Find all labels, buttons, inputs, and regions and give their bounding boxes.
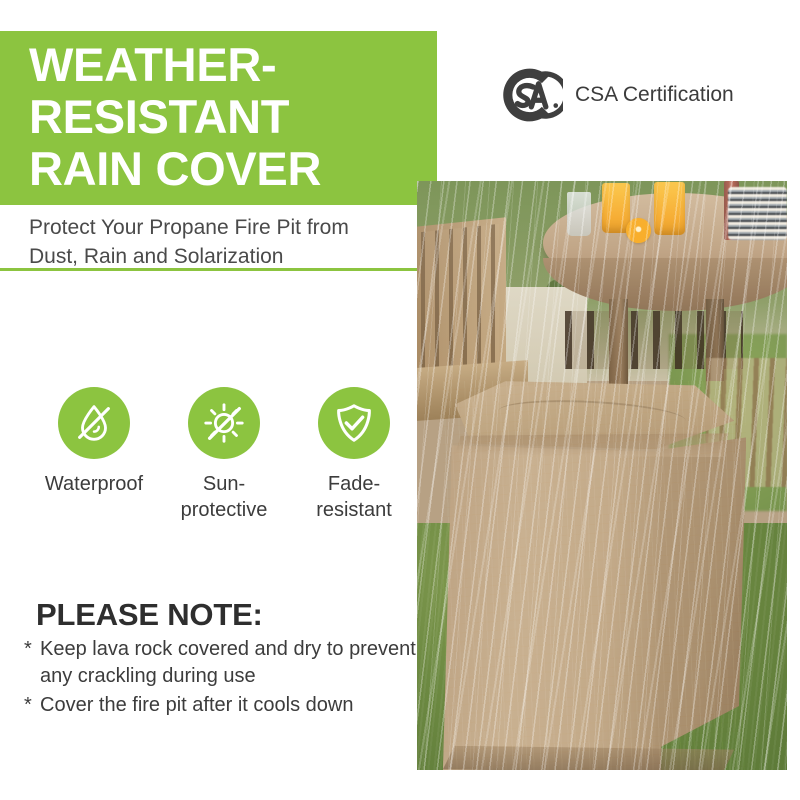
headline-banner: WEATHER- RESISTANT RAIN COVER [0, 31, 437, 205]
note-bullet-marker: * [24, 692, 40, 719]
please-note-title: PLEASE NOTE: [36, 597, 263, 633]
scene-stacked-plates [728, 187, 787, 240]
scene-table-leg [609, 299, 628, 393]
page-title: WEATHER- RESISTANT RAIN COVER [29, 39, 437, 195]
scene-water-glass [567, 192, 591, 236]
green-divider [0, 268, 418, 271]
scene-chair-slats [421, 224, 499, 374]
note-item-text: Keep lava rock covered and dry to preven… [40, 636, 416, 690]
product-photo [417, 181, 787, 770]
scene-juice-pitcher [654, 182, 685, 235]
feature-waterproof: Waterproof [29, 387, 159, 523]
infographic-canvas: WEATHER- RESISTANT RAIN COVER Protect Yo… [0, 0, 800, 800]
note-item: * Cover the fire pit after it cools down [24, 692, 419, 719]
cover-fabric-texture [443, 381, 746, 770]
subtitle-text: Protect Your Propane Fire Pit from Dust,… [29, 213, 409, 271]
note-bullet-marker: * [24, 636, 40, 690]
please-note-list: * Keep lava rock covered and dry to prev… [24, 636, 419, 721]
sun-slash-icon [188, 387, 260, 459]
csa-certification: CSA Certification [497, 62, 734, 128]
feature-list: Waterproof [29, 387, 419, 523]
shield-check-icon [318, 387, 390, 459]
feature-label-fade-resistant: Fade- resistant [316, 471, 392, 523]
feature-fade-resistant: Fade- resistant [289, 387, 419, 523]
note-item-text: Cover the fire pit after it cools down [40, 692, 353, 719]
feature-label-sun-protective: Sun- protective [181, 471, 268, 523]
csa-logo-icon [497, 62, 563, 128]
feature-sun-protective: Sun- protective [159, 387, 289, 523]
photo-scene [417, 181, 787, 770]
csa-certification-label: CSA Certification [575, 83, 734, 107]
scene-fire-pit-cover [443, 381, 746, 770]
feature-label-waterproof: Waterproof [45, 471, 143, 497]
water-drop-slash-icon [58, 387, 130, 459]
note-item: * Keep lava rock covered and dry to prev… [24, 636, 419, 690]
